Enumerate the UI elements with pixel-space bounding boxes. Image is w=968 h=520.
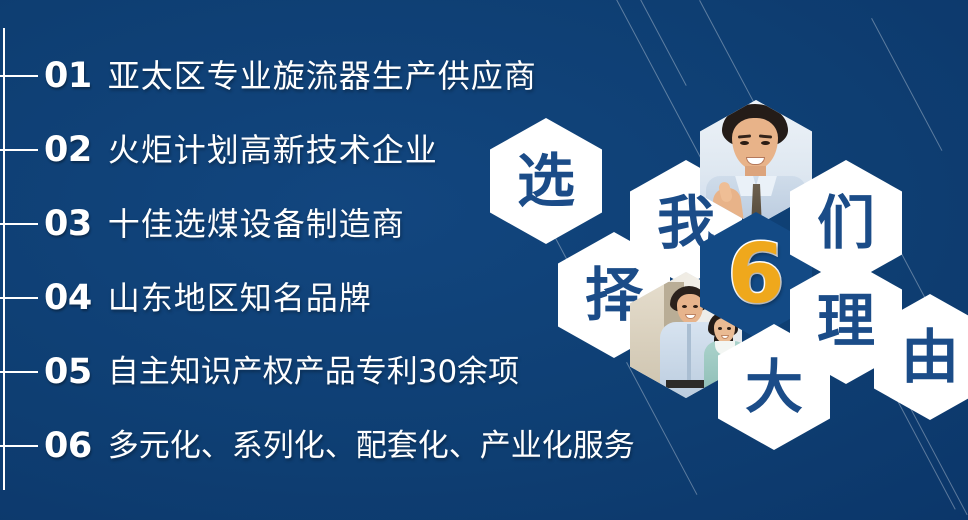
hex-glyph: 大: [745, 358, 803, 416]
hex-glyph-six: 6: [727, 234, 784, 316]
hex-glyph: 们: [817, 194, 875, 252]
hex-outline: [627, 157, 633, 163]
hex-glyph: 理: [817, 292, 875, 350]
hex-outline: [487, 115, 493, 121]
promo-banner: 01 亚太区专业旋流器生产供应商 02 火炬计划高新技术企业 03 十佳选煤设备…: [0, 0, 968, 520]
hex-glyph: 由: [901, 328, 959, 386]
hexagon-cluster: 选 择 我: [0, 0, 968, 520]
hex-outline: [697, 97, 703, 103]
hex-glyph: 选: [517, 152, 575, 210]
